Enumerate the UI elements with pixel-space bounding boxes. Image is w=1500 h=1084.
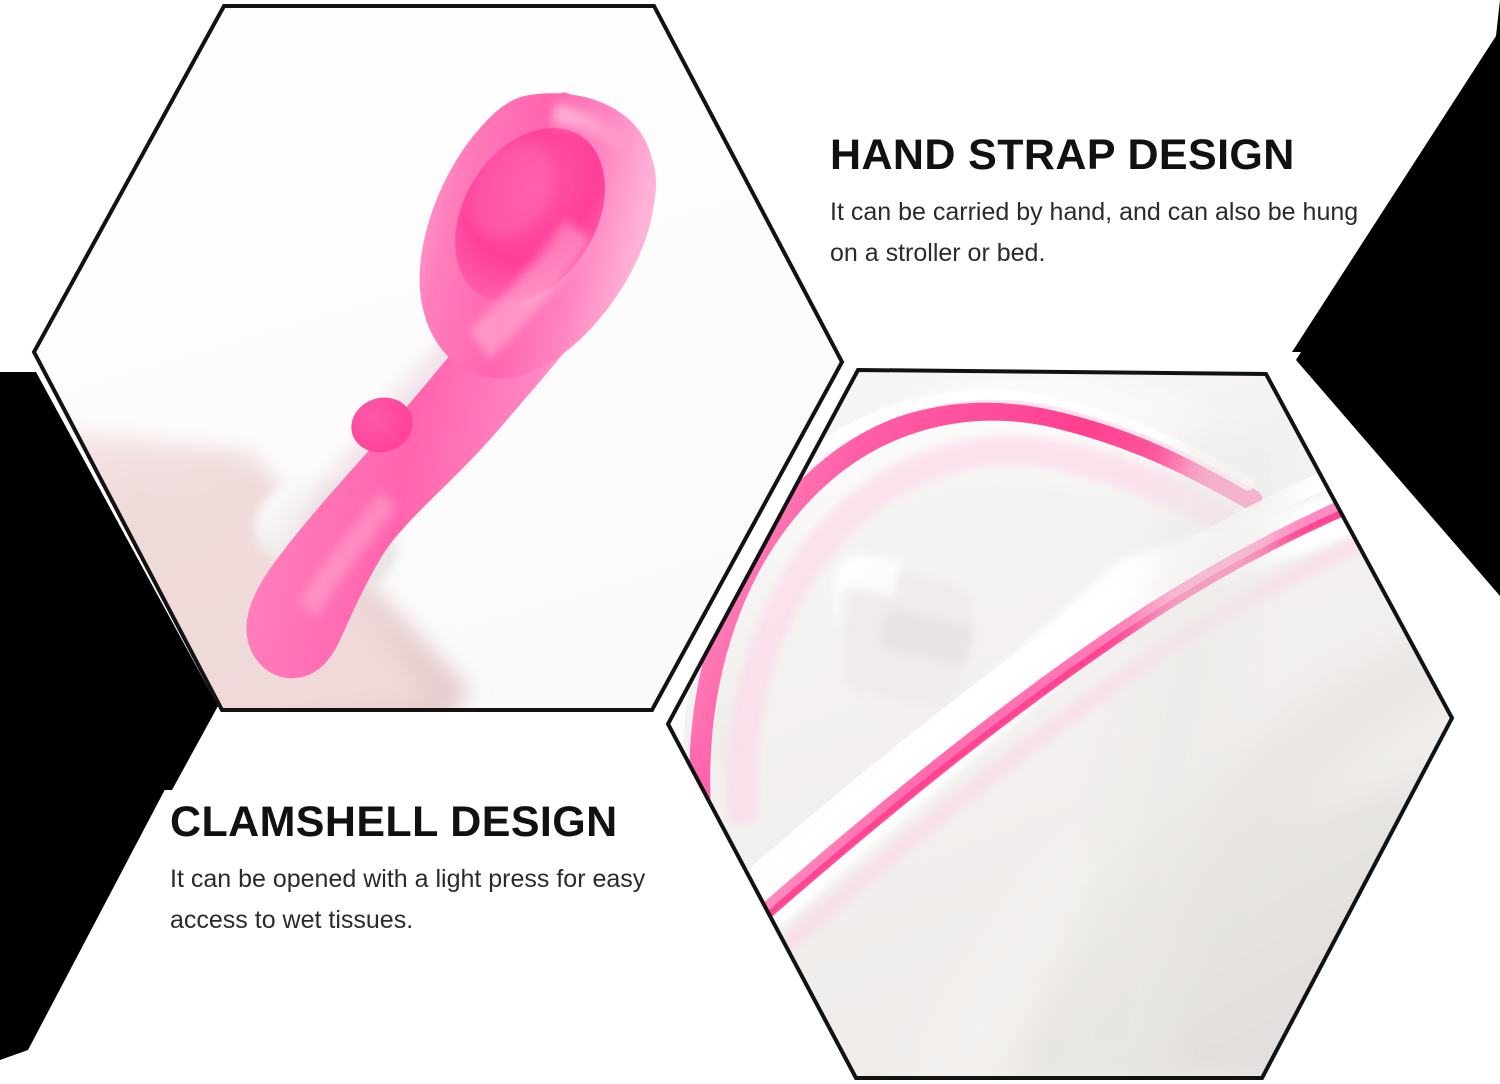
clamshell-heading: CLAMSHELL DESIGN bbox=[170, 800, 730, 845]
clamshell-body: It can be opened with a light press for … bbox=[170, 859, 730, 940]
clamshell-text-block: CLAMSHELL DESIGN It can be opened with a… bbox=[170, 800, 730, 940]
hand-strap-heading: HAND STRAP DESIGN bbox=[830, 133, 1390, 178]
hand-strap-body: It can be carried by hand, and can also … bbox=[830, 192, 1390, 273]
hand-strap-text-block: HAND STRAP DESIGN It can be carried by h… bbox=[830, 133, 1390, 273]
product-infographic: HAND STRAP DESIGN It can be carried by h… bbox=[0, 0, 1500, 1084]
